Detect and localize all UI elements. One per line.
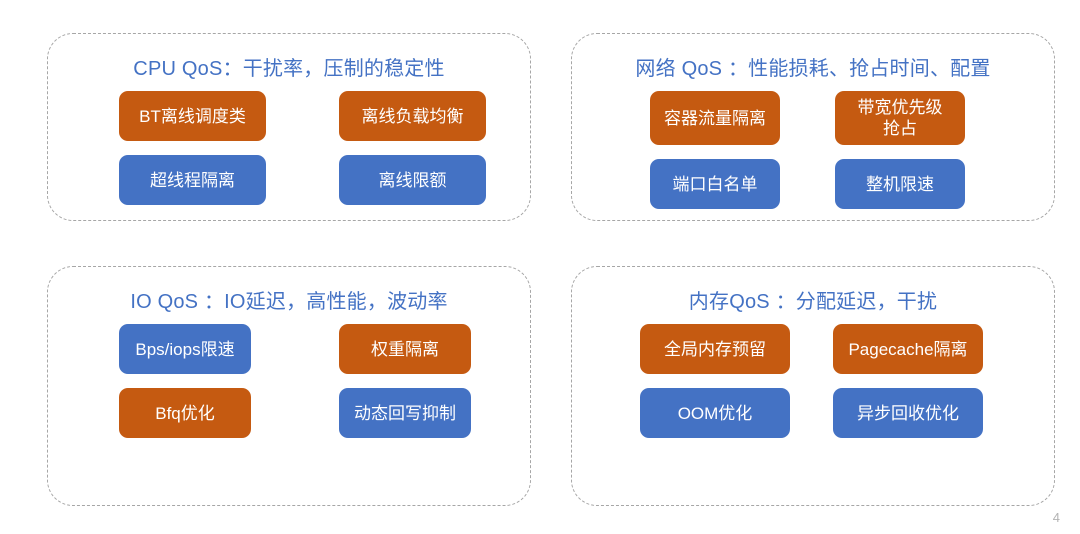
item-row: Bps/iops限速 权重隔离 — [119, 324, 484, 374]
panel-title-cpu-qos: CPU QoS：干扰率，压制的稳定性 — [48, 56, 530, 82]
item-row: BT离线调度类 离线负载均衡 — [119, 91, 484, 141]
item-row: 全局内存预留 Pagecache隔离 — [640, 324, 1010, 374]
feature-chip[interactable]: 离线限额 — [339, 155, 486, 205]
item-cell: 容器流量隔离 — [650, 91, 808, 145]
item-cell: BT离线调度类 — [119, 91, 266, 141]
item-grid-memory-qos: 全局内存预留 Pagecache隔离 OOM优化 异步回收优化 — [640, 324, 1010, 438]
panel-memory-qos: 内存QoS ：分配延迟，干扰 全局内存预留 Pagecache隔离 OOM优化 … — [571, 266, 1055, 506]
item-cell: 端口白名单 — [650, 159, 808, 209]
panel-cpu-qos: CPU QoS：干扰率，压制的稳定性 BT离线调度类 离线负载均衡 超线程隔离 … — [47, 33, 531, 221]
item-cell: Bfq优化 — [119, 388, 264, 438]
feature-chip[interactable]: 整机限速 — [835, 159, 965, 209]
panel-io-qos: IO QoS ：IO延迟，高性能，波动率 Bps/iops限速 权重隔离 Bfq… — [47, 266, 531, 506]
item-grid-io-qos: Bps/iops限速 权重隔离 Bfq优化 动态回写抑制 — [119, 324, 484, 438]
page-number: 4 — [1053, 510, 1060, 526]
item-cell: 离线负载均衡 — [339, 91, 486, 141]
item-row: 端口白名单 整机限速 — [650, 159, 1006, 209]
item-cell: 整机限速 — [835, 159, 993, 209]
item-cell: Pagecache隔离 — [833, 324, 1008, 374]
item-cell: Bps/iops限速 — [119, 324, 264, 374]
item-cell: 异步回收优化 — [833, 388, 1008, 438]
panel-network-qos: 网络 QoS ：性能损耗、抢占时间、配置 容器流量隔离 带宽优先级 抢占 端口白… — [571, 33, 1055, 221]
item-row: Bfq优化 动态回写抑制 — [119, 388, 484, 438]
panel-title-io-qos: IO QoS ：IO延迟，高性能，波动率 — [48, 289, 530, 315]
feature-chip[interactable]: 端口白名单 — [650, 159, 780, 209]
feature-chip[interactable]: OOM优化 — [640, 388, 790, 438]
item-grid-network-qos: 容器流量隔离 带宽优先级 抢占 端口白名单 整机限速 — [650, 91, 1006, 209]
item-cell: 带宽优先级 抢占 — [835, 91, 993, 145]
item-cell: 离线限额 — [339, 155, 486, 205]
feature-chip[interactable]: 离线负载均衡 — [339, 91, 486, 141]
feature-chip[interactable]: 容器流量隔离 — [650, 91, 780, 145]
item-cell: 超线程隔离 — [119, 155, 266, 205]
item-grid-cpu-qos: BT离线调度类 离线负载均衡 超线程隔离 离线限额 — [119, 91, 484, 205]
panel-title-network-qos: 网络 QoS ：性能损耗、抢占时间、配置 — [572, 56, 1054, 82]
feature-chip[interactable]: 异步回收优化 — [833, 388, 983, 438]
feature-chip[interactable]: 全局内存预留 — [640, 324, 790, 374]
item-row: OOM优化 异步回收优化 — [640, 388, 1010, 438]
feature-chip[interactable]: Pagecache隔离 — [833, 324, 983, 374]
feature-chip[interactable]: 带宽优先级 抢占 — [835, 91, 965, 145]
panel-title-memory-qos: 内存QoS ：分配延迟，干扰 — [572, 289, 1054, 315]
feature-chip[interactable]: 动态回写抑制 — [339, 388, 471, 438]
feature-chip[interactable]: 超线程隔离 — [119, 155, 266, 205]
item-row: 容器流量隔离 带宽优先级 抢占 — [650, 91, 1006, 145]
slide-canvas: CPU QoS：干扰率，压制的稳定性 BT离线调度类 离线负载均衡 超线程隔离 … — [0, 0, 1080, 534]
item-cell: 动态回写抑制 — [339, 388, 484, 438]
feature-chip[interactable]: Bps/iops限速 — [119, 324, 251, 374]
feature-chip[interactable]: BT离线调度类 — [119, 91, 266, 141]
item-cell: 权重隔离 — [339, 324, 484, 374]
feature-chip[interactable]: 权重隔离 — [339, 324, 471, 374]
feature-chip[interactable]: Bfq优化 — [119, 388, 251, 438]
item-cell: OOM优化 — [640, 388, 815, 438]
item-row: 超线程隔离 离线限额 — [119, 155, 484, 205]
item-cell: 全局内存预留 — [640, 324, 815, 374]
